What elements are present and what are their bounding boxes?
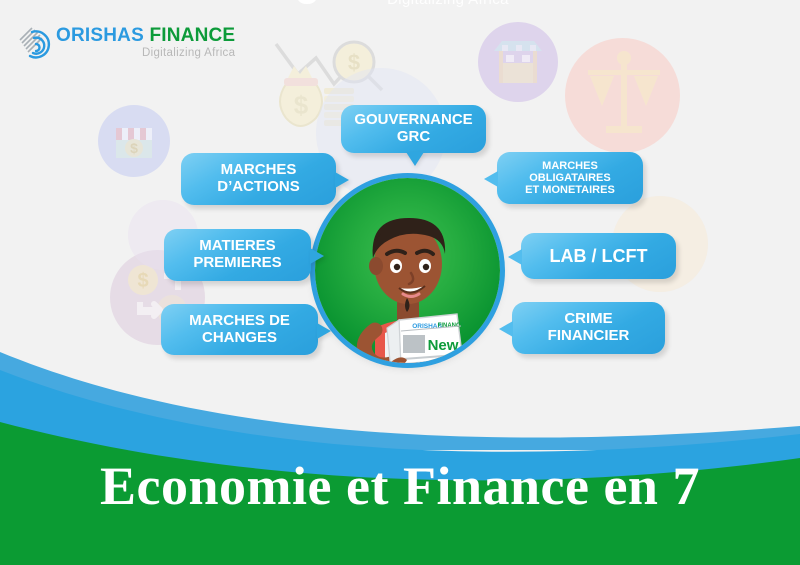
bubble-label: MATIERES PREMIERES [193,238,281,272]
svg-text:New: New [428,337,459,354]
logo-tagline: Digitalizing Africa [56,48,235,60]
svg-text:$: $ [130,140,138,156]
svg-text:$: $ [294,90,309,120]
bubble-lab-lcft[interactable]: LAB / LCFT [521,233,676,279]
bubble-label: MARCHES DE CHANGES [189,313,290,347]
bubble-crime-financier[interactable]: CRIME FINANCIER [512,302,665,354]
hero-avatar-man-reading-newspaper: ORISHAS FINANCE New [315,178,500,363]
bubble-tail-right-icon [310,248,324,264]
bubble-tail-right-icon [317,323,331,339]
bubble-marches-de-changes[interactable]: MARCHES DE CHANGES [161,304,318,355]
wave-band-group [0,330,800,565]
shop-icon: $ [110,118,158,166]
bubble-tail-left-icon [484,171,498,187]
page-title: Economie et Finance en 7 [0,455,800,517]
logo-word-secondary: FINANCE [149,25,235,46]
orishas-swirl-mark-icon [18,26,54,64]
bubble-matieres-premieres[interactable]: MATIERES PREMIERES [164,229,311,281]
scales-of-justice-icon [580,48,668,148]
market-stall-icon [490,35,546,91]
bubble-tail-right-icon [335,172,349,188]
bubble-tail-down-icon [406,152,424,166]
bubble-marches-obligataires-et-monetaires[interactable]: MARCHES OBLIGATAIRES ET MONETAIRES [497,152,643,204]
bubble-label: LAB / LCFT [550,246,648,266]
bubble-marches-dactions[interactable]: MARCHES D’ACTIONS [181,153,336,205]
bubble-label: MARCHES OBLIGATAIRES ET MONETAIRES [525,160,615,197]
brand-logo[interactable]: ORISHAS FINANCE Digitalizing Africa [18,26,235,64]
bubble-tail-left-icon [508,249,522,265]
poster-canvas: $ $ [0,0,800,565]
logo-word-primary: ORISHAS [56,25,144,46]
bubble-label: CRIME FINANCIER [548,311,630,345]
bubble-gouvernance-grc[interactable]: GOUVERNANCE GRC [341,105,486,153]
top-watermark: Digitalizing Africa [318,0,578,8]
bubble-tail-left-icon [499,321,513,337]
bubble-label: MARCHES D’ACTIONS [217,162,300,196]
top-watermark-label: Digitalizing Africa [387,0,509,8]
watermark-swoosh-icon [296,0,318,4]
bubble-label: GOUVERNANCE GRC [354,112,472,146]
svg-text:$: $ [137,270,148,292]
